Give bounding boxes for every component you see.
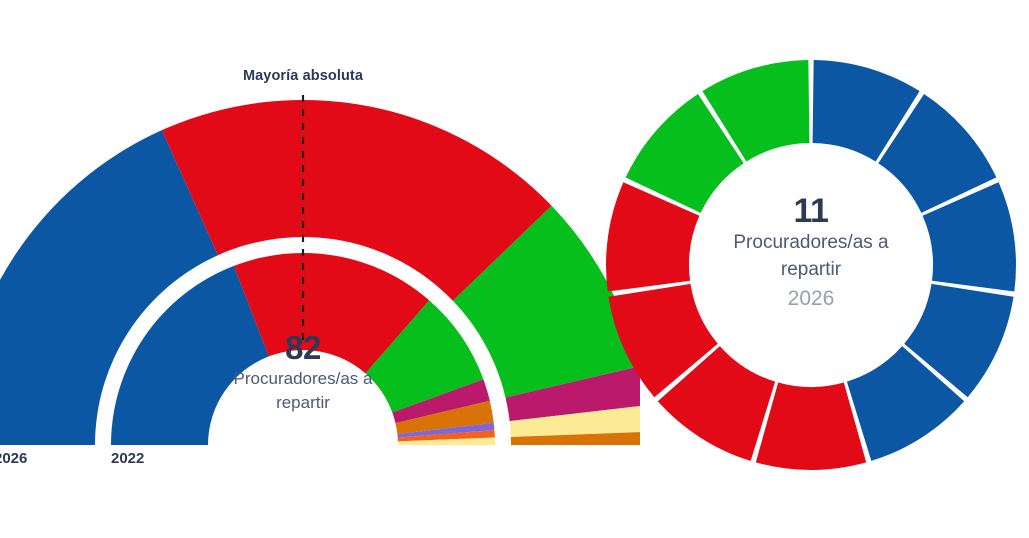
hemicycle-seat-total: 82 — [188, 330, 418, 367]
donut-segment-6-red[interactable] — [756, 382, 866, 470]
figure-canvas: Mayoría absoluta 2026 2022 82 Procurador… — [0, 0, 1029, 538]
hemicycle-center-label: 82 Procuradores/as a repartir — [188, 330, 418, 415]
hemicycle-caption-line1: Procuradores/as a — [188, 367, 418, 391]
donut-caption-line1: Procuradores/as a — [676, 230, 946, 257]
donut-year: 2026 — [676, 284, 946, 314]
donut-seat-total: 11 — [676, 192, 946, 230]
hemicycle-caption-line2: repartir — [188, 391, 418, 415]
donut-caption-line2: repartir — [676, 257, 946, 284]
majority-label: Mayoría absoluta — [243, 68, 363, 84]
year-tick-2022: 2022 — [111, 450, 144, 467]
donut-center-label: 11 Procuradores/as a repartir 2026 — [676, 192, 946, 314]
year-tick-2026: 2026 — [0, 450, 27, 467]
